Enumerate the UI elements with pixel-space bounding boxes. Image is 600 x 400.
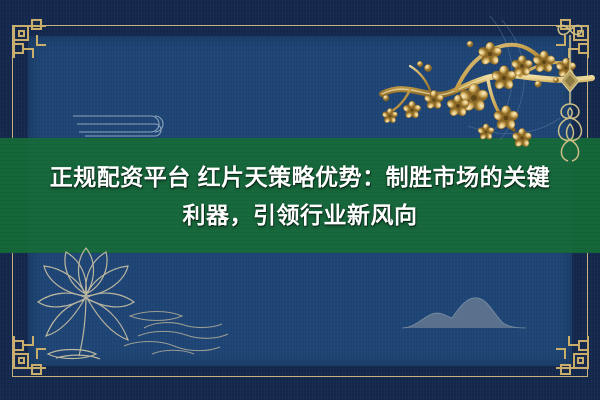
corner-fret-ornament-icon: [540, 320, 596, 376]
promo-banner: 正规配资平台 红片天策略优势：制胜市场的关键 利器，引领行业新风向: [0, 0, 600, 400]
headline-line-1: 正规配资平台 红片天策略优势：制胜市场的关键: [50, 158, 550, 196]
headline-line-2: 利器，引领行业新风向: [183, 196, 418, 234]
headline-block: 正规配资平台 红片天策略优势：制胜市场的关键 利器，引领行业新风向: [0, 138, 600, 253]
corner-fret-ornament-icon: [540, 18, 596, 74]
frame-line-top: [12, 25, 588, 26]
corner-fret-ornament-icon: [6, 320, 62, 376]
corner-fret-ornament-icon: [6, 18, 62, 74]
frame-line-bottom: [12, 376, 588, 377]
